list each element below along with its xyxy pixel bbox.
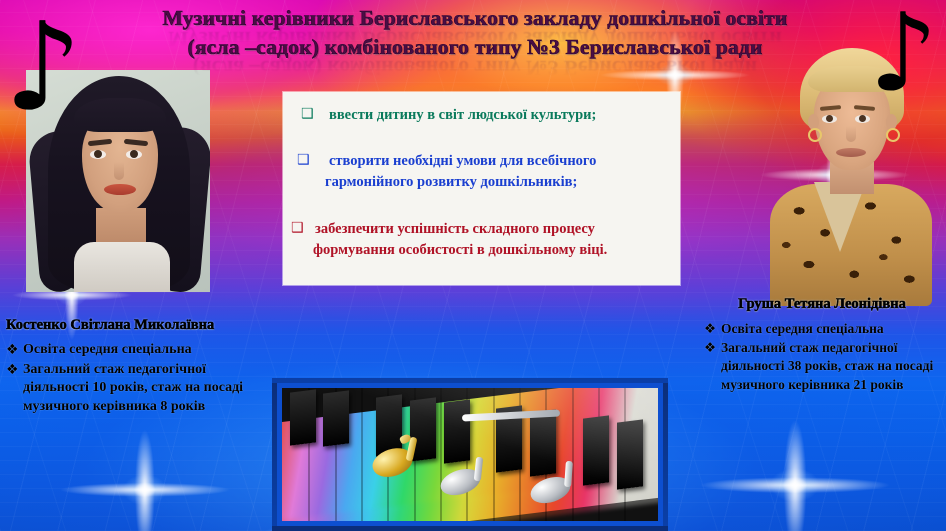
list-item: ❖ Освіта середня спеціальна [704, 320, 940, 339]
goal-item: ❑ забезпечити успішність складного проце… [291, 219, 672, 261]
diamond-bullet-icon: ❖ [6, 341, 19, 360]
list-item: ❖ Загальний стаж педагогічної діяльності… [704, 339, 940, 395]
goal-text: ввести дитину в світ людської культури; [329, 106, 664, 125]
goals-panel: ❑ ввести дитину в світ людської культури… [283, 92, 680, 285]
diamond-bullet-icon: ❖ [704, 320, 716, 339]
person-facts-right: ❖ Освіта середня спеціальна ❖ Загальний … [704, 320, 940, 394]
title-line-2-reflection: (ясла –садок) комбінованого типу №3 Бери… [95, 55, 855, 80]
caption-left: Костенко Світлана Миколаївна ❖ Освіта се… [6, 317, 256, 417]
fact-text: Освіта середня спеціальна [721, 321, 884, 336]
person-facts-left: ❖ Освіта середня спеціальна ❖ Загальний … [6, 341, 256, 416]
eighth-note-icon: ♪ [869, 0, 938, 108]
goal-item: ❑ ввести дитину в світ людської культури… [307, 106, 664, 125]
list-item: ❖ Освіта середня спеціальна [6, 341, 256, 360]
diamond-bullet-icon: ❖ [704, 339, 716, 358]
title-line-1-reflection: Музичні керівники Бериславського закладу… [95, 26, 855, 51]
square-bullet-icon: ❑ [297, 150, 310, 171]
presentation-slide: ♪ ♪ Музичні керівники Бериславського зак… [0, 0, 946, 531]
eighth-note-icon: ♪ [4, 6, 82, 128]
caption-right: Груша Тетяна Леонідівна ❖ Освіта середня… [704, 296, 940, 394]
goal-text: забезпечити успішність складного процесу… [313, 219, 672, 261]
fact-text: Загальний стаж педагогічної діяльності 1… [23, 362, 243, 414]
square-bullet-icon: ❑ [301, 105, 314, 124]
goal-text: створити необхідні умови для всебічного … [325, 151, 668, 193]
person-name-right: Груша Тетяна Леонідівна [704, 296, 940, 313]
diamond-bullet-icon: ❖ [6, 361, 19, 380]
fact-text: Загальний стаж педагогічної діяльності 3… [721, 340, 933, 392]
square-bullet-icon: ❑ [291, 218, 304, 239]
fact-text: Освіта середня спеціальна [23, 342, 192, 357]
list-item: ❖ Загальний стаж педагогічної діяльності… [6, 361, 256, 417]
goal-item: ❑ створити необхідні умови для всебічног… [299, 151, 668, 193]
rainbow-piano-image [272, 378, 668, 531]
slide-title: Музичні керівники Бериславського закладу… [95, 6, 855, 80]
person-name-left: Костенко Світлана Миколаївна [6, 317, 256, 334]
